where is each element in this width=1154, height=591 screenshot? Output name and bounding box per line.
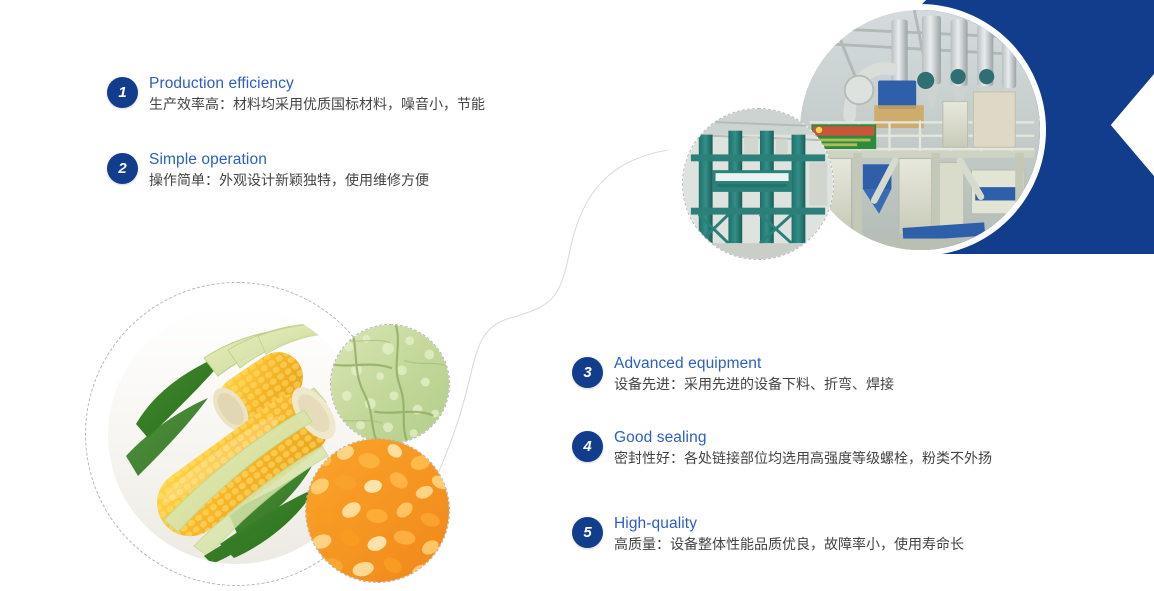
- feature-item-4[interactable]: 4 Good sealing 密封性好：各处链接部位均选用高强度等级螺栓，粉类不…: [572, 431, 992, 470]
- feature-badge-3: 3: [572, 357, 603, 388]
- machinery-photo-group: [660, 0, 1154, 270]
- feature-badge-5: 5: [572, 517, 603, 548]
- feature-badge-4: 4: [572, 431, 603, 462]
- feature-title-5: High-quality: [614, 514, 964, 534]
- corn-products-photo-group: [85, 280, 485, 591]
- feature-desc-3: 设备先进：采用先进的设备下料、折弯、焊接: [614, 374, 894, 396]
- flour-mill-machinery-photo: [794, 4, 1046, 256]
- feature-badge-2: 2: [107, 153, 138, 184]
- feature-badge-1: 1: [107, 77, 138, 108]
- feature-text-5: High-quality 高质量：设备整体性能品质优良，故障率小，使用寿命长: [614, 514, 964, 556]
- feature-item-2[interactable]: 2 Simple operation 操作简单：外观设计新颖独特，使用维修方便: [107, 153, 429, 192]
- feature-desc-4: 密封性好：各处链接部位均选用高强度等级螺栓，粉类不外扬: [614, 448, 992, 470]
- orange-corn-grits-photo: [305, 438, 450, 583]
- feature-text-2: Simple operation 操作简单：外观设计新颖独特，使用维修方便: [149, 150, 429, 192]
- feature-title-3: Advanced equipment: [614, 354, 894, 374]
- feature-title-2: Simple operation: [149, 150, 429, 170]
- feature-desc-1: 生产效率高：材料均采用优质国标材料，噪音小，节能: [149, 94, 485, 116]
- teal-milling-plant-photo: [682, 108, 834, 260]
- feature-item-1[interactable]: 1 Production efficiency 生产效率高：材料均采用优质国标材…: [107, 77, 485, 116]
- green-corn-flour-paste-photo: [330, 324, 450, 444]
- feature-item-5[interactable]: 5 High-quality 高质量：设备整体性能品质优良，故障率小，使用寿命长: [572, 517, 964, 556]
- feature-desc-2: 操作简单：外观设计新颖独特，使用维修方便: [149, 170, 429, 192]
- infographic-stage: 1 Production efficiency 生产效率高：材料均采用优质国标材…: [0, 0, 1154, 591]
- feature-title-1: Production efficiency: [149, 74, 485, 94]
- feature-desc-5: 高质量：设备整体性能品质优良，故障率小，使用寿命长: [614, 534, 964, 556]
- feature-text-1: Production efficiency 生产效率高：材料均采用优质国标材料，…: [149, 74, 485, 116]
- feature-item-3[interactable]: 3 Advanced equipment 设备先进：采用先进的设备下料、折弯、焊…: [572, 357, 894, 396]
- feature-text-3: Advanced equipment 设备先进：采用先进的设备下料、折弯、焊接: [614, 354, 894, 396]
- feature-text-4: Good sealing 密封性好：各处链接部位均选用高强度等级螺栓，粉类不外扬: [614, 428, 992, 470]
- feature-title-4: Good sealing: [614, 428, 992, 448]
